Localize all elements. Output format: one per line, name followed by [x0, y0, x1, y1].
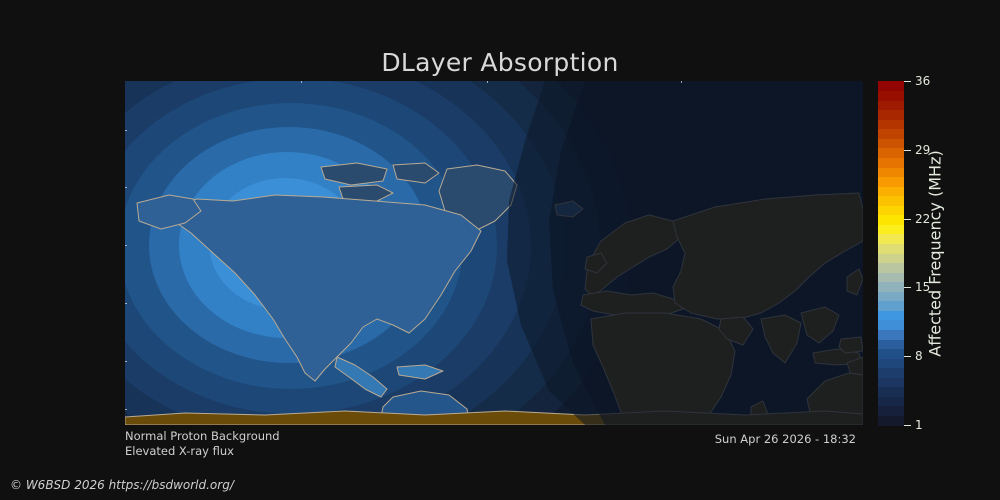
colorbar-segment — [878, 282, 904, 292]
colorbar-tick — [904, 219, 911, 220]
colorbar-segment — [878, 129, 904, 139]
colorbar-segment — [878, 406, 904, 416]
colorbar-segment — [878, 310, 904, 320]
colorbar-segment — [878, 368, 904, 378]
gridline-lat-0 — [125, 245, 863, 246]
colorbar-segment — [878, 205, 904, 215]
colorbar-segment — [878, 215, 904, 225]
colorbar-segment — [878, 110, 904, 120]
colorbar-tick — [904, 81, 911, 82]
gridline-lat-30s — [125, 303, 863, 304]
colorbar-segment — [878, 81, 904, 91]
gridline-lat-60s — [125, 361, 863, 362]
colorbar-gradient — [878, 81, 904, 425]
colorbar-segment — [878, 138, 904, 148]
colorbar-segment — [878, 253, 904, 263]
gridline-lon-0 — [487, 81, 488, 425]
colorbar[interactable]: 1815222936 Max — [878, 81, 904, 425]
colorbar-axis-label: Affected Frequency (MHz) — [922, 81, 948, 425]
colorbar-segment — [878, 119, 904, 129]
gridline-lon-90e — [681, 81, 682, 425]
colorbar-segment — [878, 320, 904, 330]
colorbar-segment — [878, 234, 904, 244]
gridline-lat-80s — [125, 409, 863, 410]
colorbar-segment — [878, 177, 904, 187]
colorbar-segment — [878, 291, 904, 301]
colorbar-segment — [878, 329, 904, 339]
colorbar-segment — [878, 415, 904, 425]
colorbar-tick — [904, 150, 911, 151]
colorbar-segment — [878, 243, 904, 253]
status-notes: Normal Proton Background Elevated X-ray … — [125, 429, 280, 459]
colorbar-segment — [878, 301, 904, 311]
colorbar-tick — [904, 425, 911, 426]
colorbar-segment — [878, 396, 904, 406]
gridline-lat-60n — [125, 130, 863, 131]
note-xray-flux: Elevated X-ray flux — [125, 444, 280, 459]
map-canvas — [125, 81, 863, 425]
colorbar-segment — [878, 358, 904, 368]
colorbar-segment — [878, 196, 904, 206]
colorbar-segment — [878, 157, 904, 167]
colorbar-segment — [878, 148, 904, 158]
colorbar-segment — [878, 339, 904, 349]
gridline-lon-90w — [301, 81, 302, 425]
world-absorption-map[interactable] — [125, 81, 863, 425]
colorbar-segment — [878, 272, 904, 282]
colorbar-axis-label-text: Affected Frequency (MHz) — [926, 150, 945, 356]
note-proton-background: Normal Proton Background — [125, 429, 280, 444]
colorbar-segment — [878, 100, 904, 110]
dlayer-absorption-figure: DLayer Absorption — [0, 0, 1000, 500]
colorbar-segment — [878, 349, 904, 359]
colorbar-segment — [878, 263, 904, 273]
timestamp: Sun Apr 26 2026 - 18:32 — [715, 432, 856, 446]
colorbar-tick — [904, 287, 911, 288]
footer-credit: © W6BSD 2026 https://bsdworld.org/ — [10, 478, 234, 492]
colorbar-segment — [878, 377, 904, 387]
colorbar-segment — [878, 224, 904, 234]
page-title: DLayer Absorption — [0, 48, 1000, 77]
gridline-lat-30n — [125, 187, 863, 188]
colorbar-segment — [878, 91, 904, 101]
colorbar-segment — [878, 186, 904, 196]
colorbar-segment — [878, 167, 904, 177]
colorbar-tick — [904, 356, 911, 357]
colorbar-segment — [878, 387, 904, 397]
